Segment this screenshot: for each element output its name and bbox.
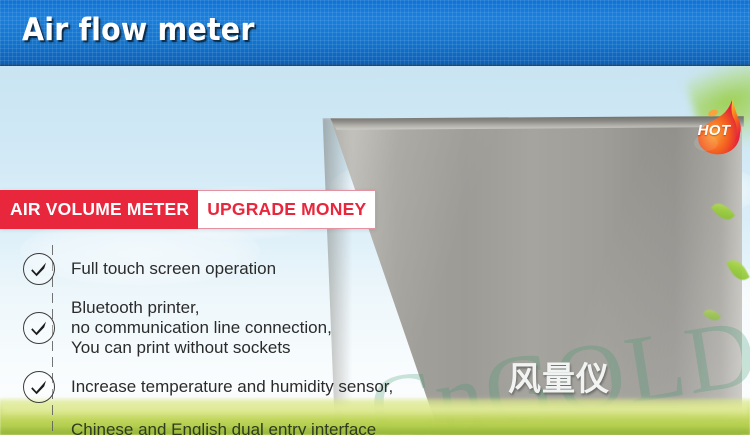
feature-item: Full touch screen operation [14,247,434,291]
promo-banner: AIR VOLUME METER UPGRADE MONEY [0,190,376,229]
page-title: Air flow meter [22,12,255,48]
promo-banner-primary: AIR VOLUME METER [0,190,198,229]
product-banner-image: CnGOLDTM 风量仪 Air flow meter [0,0,750,435]
feature-text: Bluetooth printer, no communication line… [71,298,332,358]
promo-banner-secondary: UPGRADE MONEY [198,190,376,229]
feature-item: Bluetooth printer, no communication line… [14,295,434,361]
feature-text: Full touch screen operation [71,259,276,279]
feature-item: Chinese and English dual entry interface [14,413,434,435]
feature-text: Increase temperature and humidity sensor… [71,377,393,397]
device-chinese-label: 风量仪 [508,352,610,400]
feature-item: Increase temperature and humidity sensor… [14,365,434,409]
hot-badge: HOT [688,96,746,158]
header-bar: Air flow meter [0,0,750,66]
check-circle-icon [23,253,55,285]
feature-text: Chinese and English dual entry interface [71,420,376,435]
check-circle-icon [23,312,55,344]
flame-icon [688,96,746,158]
check-circle-icon [23,371,55,403]
feature-list: Full touch screen operation Bluetooth pr… [14,247,434,435]
